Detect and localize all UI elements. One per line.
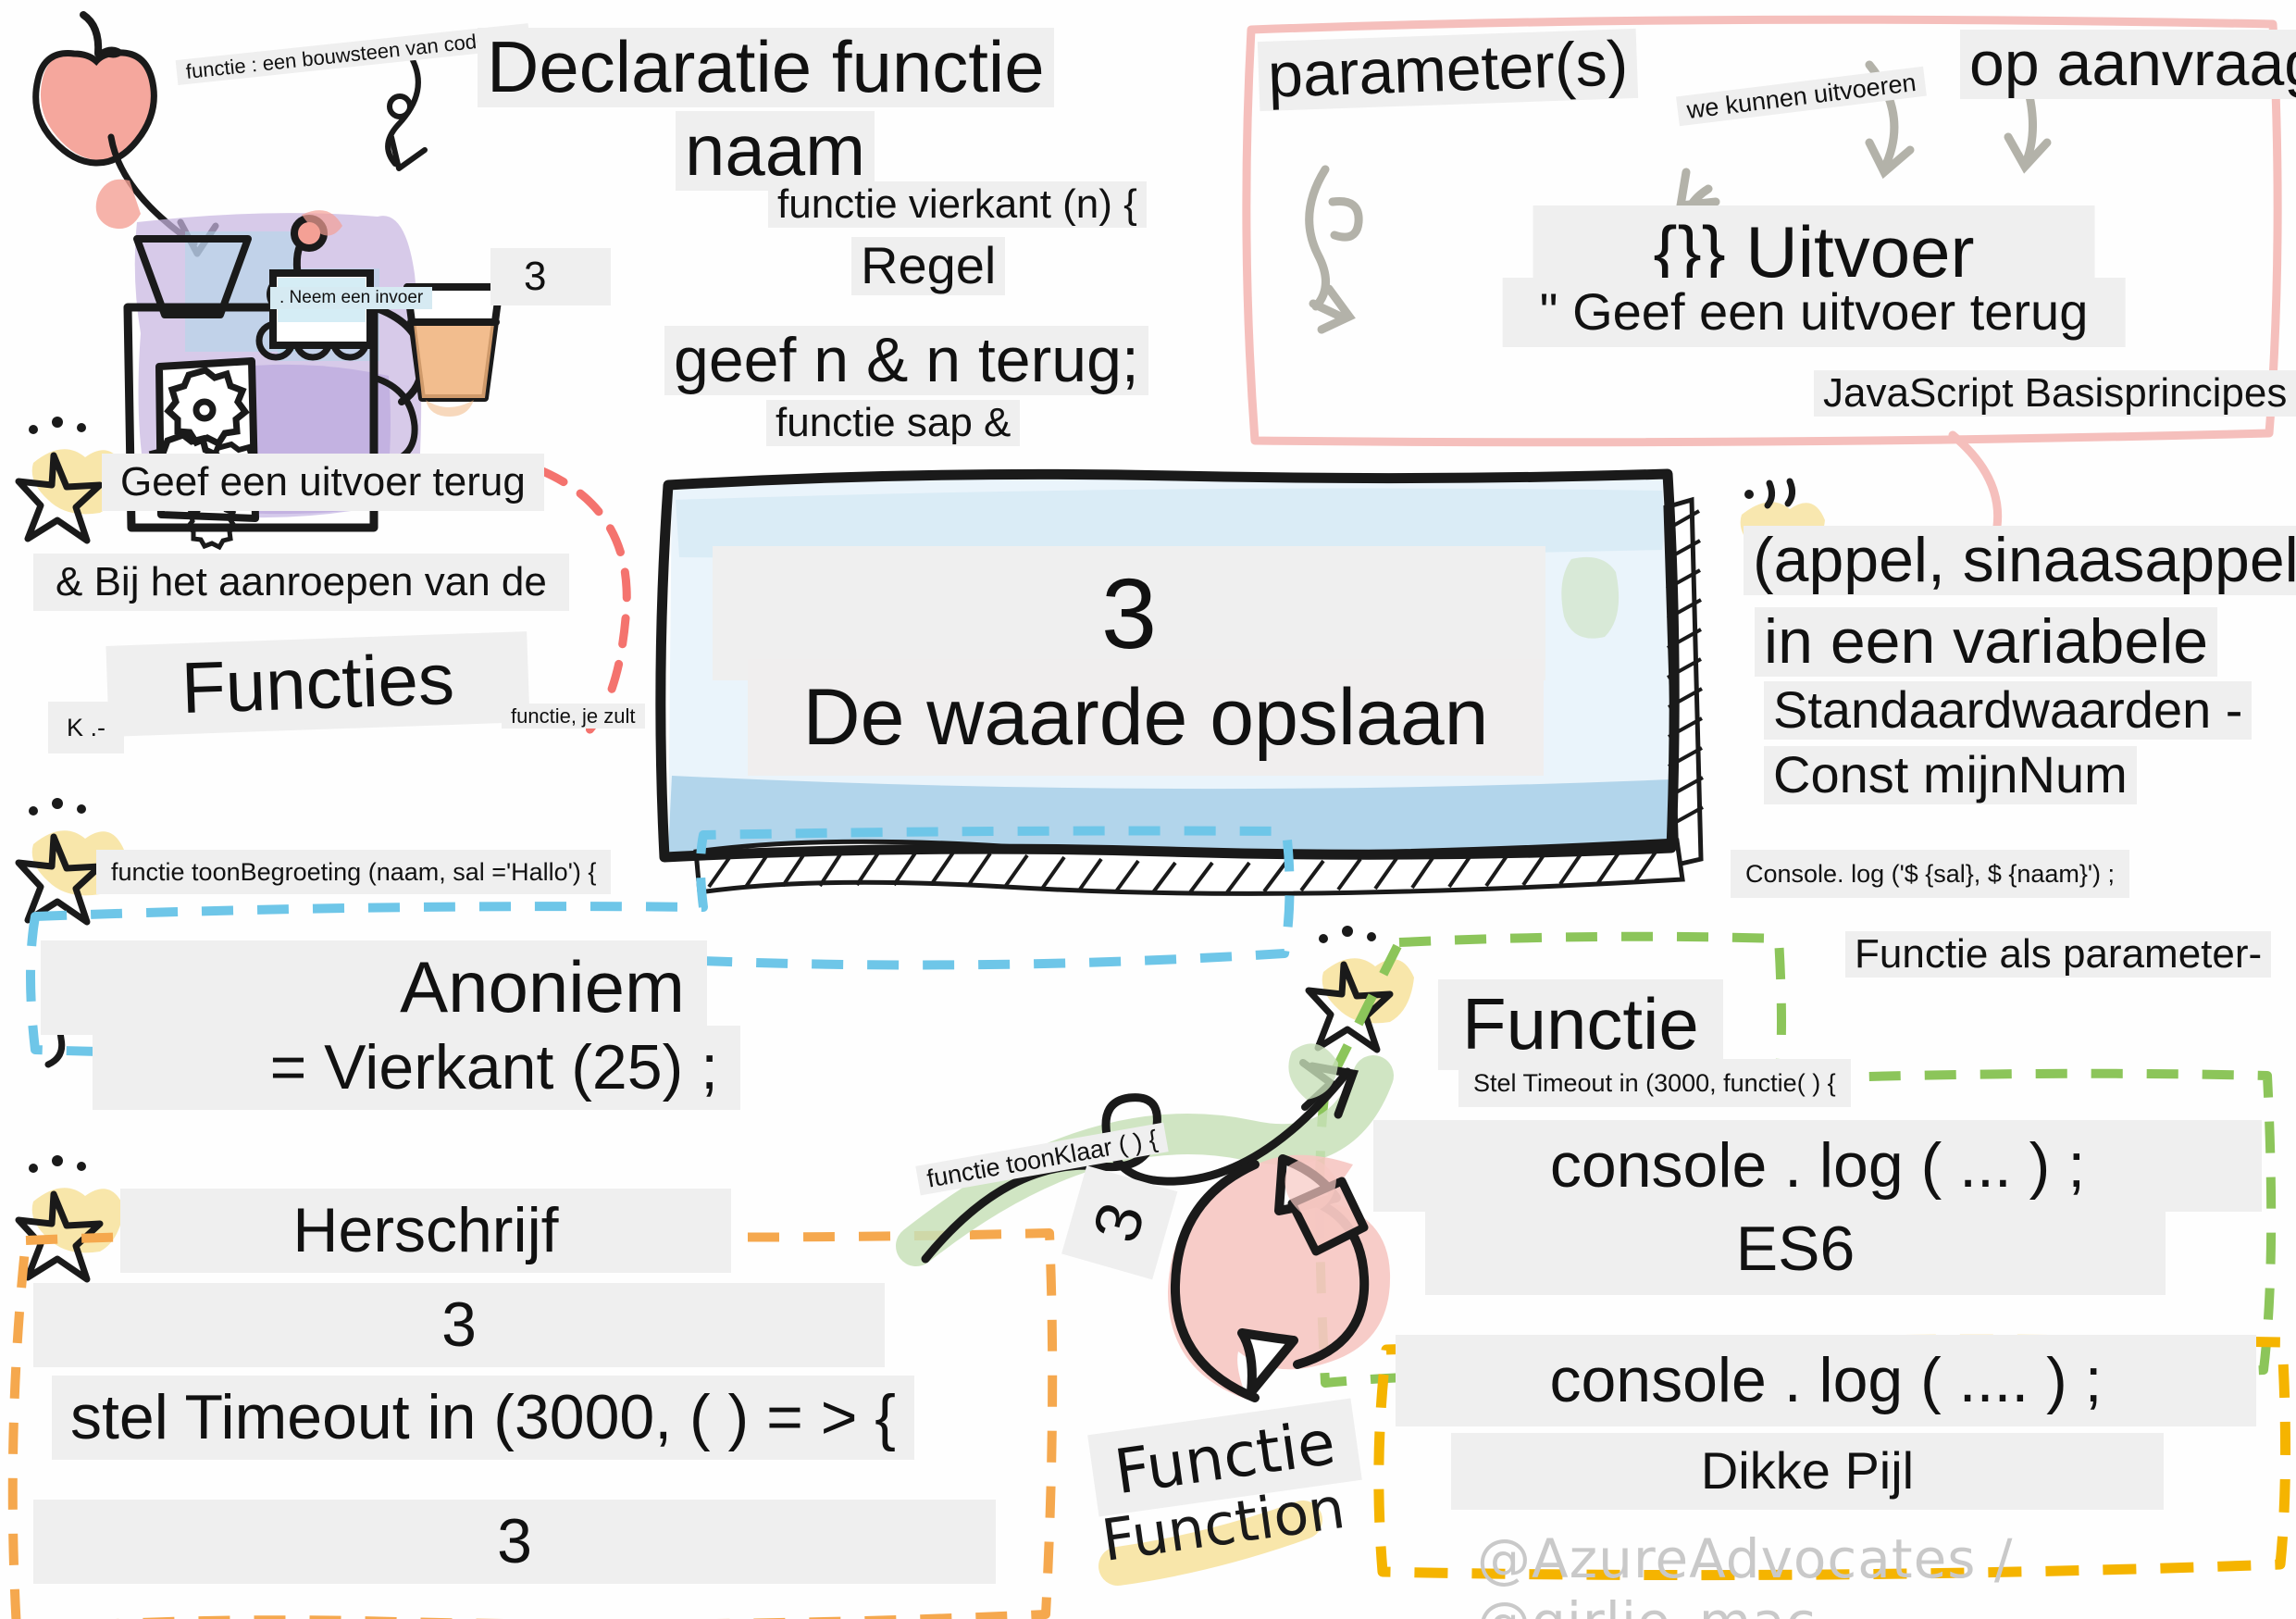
gear-icon bbox=[168, 370, 245, 443]
toonbegroeting-code: functie toonBegroeting (naam, sal ='Hall… bbox=[96, 850, 611, 894]
we-kunnen-uitvoeren-note: we kunnen uitvoeren bbox=[1676, 67, 1927, 127]
juicer-screen-text: . Neem een invoer bbox=[270, 287, 432, 309]
standaardwaarden-label: Standaardwaarden - bbox=[1764, 681, 2252, 740]
sparkle-star-icon bbox=[19, 1155, 124, 1279]
in-een-variabele-label: in een variabele bbox=[1755, 607, 2217, 677]
stel-timeout-functie-code: Stel Timeout in (3000, functie( ) { bbox=[1458, 1059, 1851, 1107]
functie-vierkant-code: functie vierkant (n) { bbox=[768, 181, 1147, 228]
anoniem-label: Anoniem bbox=[41, 940, 707, 1035]
console-log-dots-code: console . log ( ... ) ; bbox=[1373, 1120, 2262, 1212]
const-mijnnum-code: Const mijnNum bbox=[1764, 746, 2137, 804]
op-aanvraag-label: op aanvraag. bbox=[1960, 30, 2296, 99]
apple-to-juicer-arrow bbox=[111, 137, 194, 243]
sparkle-star-icon bbox=[1309, 926, 1414, 1050]
es6-label: ES6 bbox=[1425, 1203, 2166, 1295]
sketchnote-canvas: functie : een bouwsteen van code die . N… bbox=[0, 0, 2296, 1619]
functies-heading: Functies bbox=[105, 631, 529, 737]
gray-curly-arrow bbox=[1309, 169, 1359, 330]
console-log-dots4-code: console . log ( .... ) ; bbox=[1396, 1335, 2256, 1426]
definition-curly-arrow bbox=[388, 51, 418, 164]
geef-uitvoer-terug-left: Geef een uitvoer terug bbox=[102, 454, 544, 511]
dikke-pijl-label: Dikke Pijl bbox=[1451, 1433, 2164, 1510]
bij-aanroepen-label: & Bij het aanroepen van de bbox=[33, 554, 569, 611]
geef-n-terug-code: geef n & n terug; bbox=[664, 326, 1148, 395]
vierkant-25-code: = Vierkant (25) ; bbox=[93, 1026, 740, 1110]
naam-label: naam bbox=[676, 111, 875, 191]
parameters-label: parameter(s) bbox=[1258, 29, 1639, 112]
functie-green-heading: Functie bbox=[1438, 979, 1723, 1070]
stel-timeout-arrow-code: stel Timeout in (3000, ( ) = > { bbox=[52, 1376, 914, 1460]
declaratie-functie-label: Declaratie functie bbox=[478, 28, 1054, 107]
orange-number-3-bottom: 3 bbox=[33, 1500, 996, 1584]
watermark-credit: @AzureAdvocates / @girlie_mac bbox=[1477, 1527, 2296, 1619]
rotated-number-3: 3 bbox=[1061, 1165, 1177, 1279]
geef-uitvoer-terug-pink: " Geef een uitvoer terug bbox=[1503, 278, 2126, 347]
apple-icon bbox=[36, 15, 155, 163]
javascript-basisprincipes-label: JavaScript Basisprincipes bbox=[1814, 370, 2296, 417]
green-chevron-icon bbox=[1303, 1063, 1331, 1107]
functie-sap-code: functie sap & bbox=[766, 400, 1020, 446]
refresh-loop-arrow-icon bbox=[1168, 1155, 1390, 1400]
functie-als-parameter-label: Functie als parameter- bbox=[1845, 931, 2271, 978]
regel-label: Regel bbox=[851, 237, 1005, 295]
step-number-3-left: 3 bbox=[490, 248, 611, 305]
k-marker: K .- bbox=[48, 702, 124, 753]
herschrijf-label: Herschrijf bbox=[120, 1189, 731, 1273]
center-card-title: De waarde opslaan bbox=[748, 659, 1544, 776]
orange-number-3-top: 3 bbox=[33, 1283, 885, 1367]
console-log-sal-naam-code: Console. log ('$ {sal}, $ {naam}') ; bbox=[1731, 850, 2129, 898]
appel-sinaasappel-label: (appel, sinaasappel) bbox=[1744, 526, 2296, 595]
functie-je-zult-note: functie, je zult bbox=[502, 704, 645, 729]
